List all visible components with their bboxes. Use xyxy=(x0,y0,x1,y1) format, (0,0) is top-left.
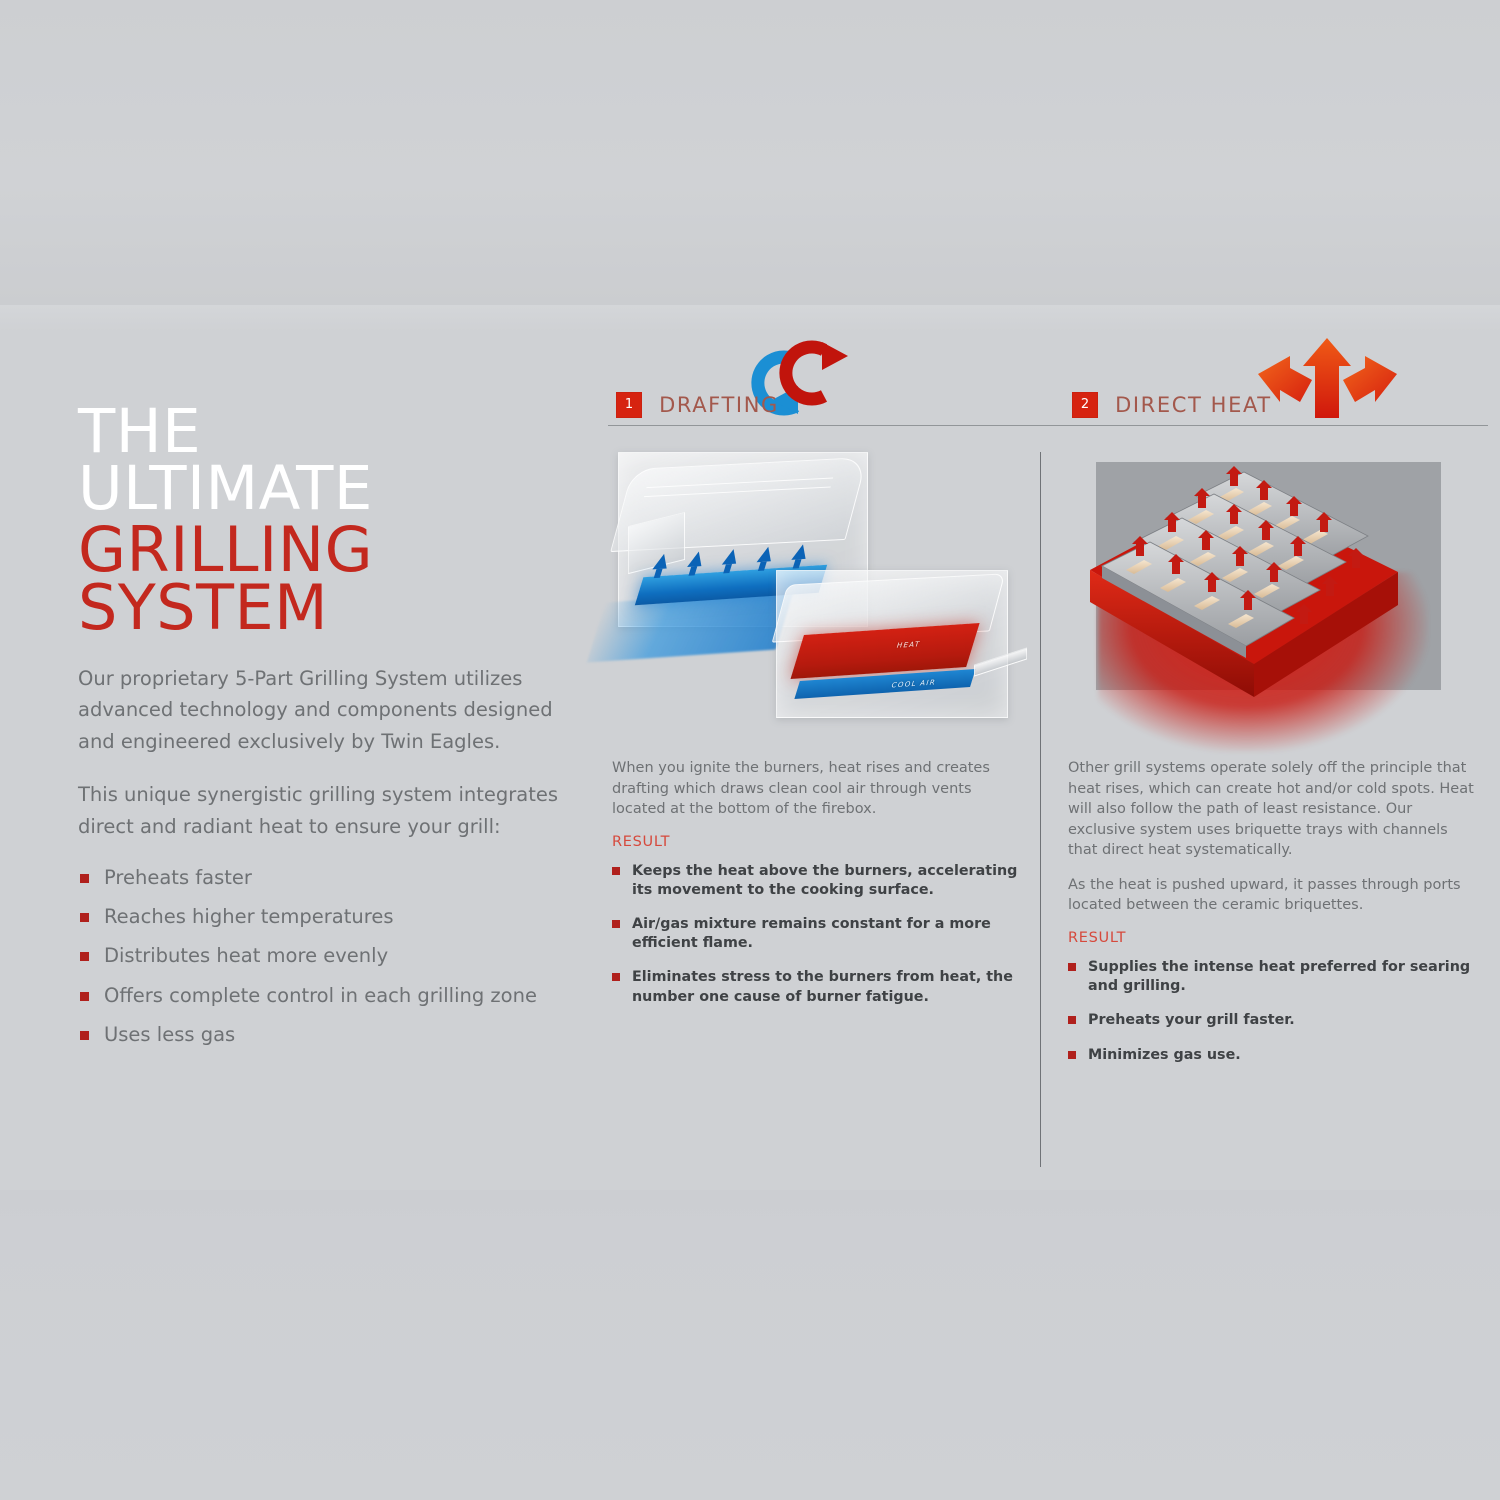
section-title: DRAFTING xyxy=(659,393,779,417)
bullet-square-icon xyxy=(80,1031,89,1040)
background-band-bottom xyxy=(0,1190,1500,1500)
title-line-4: SYSTEM xyxy=(78,579,578,637)
body-paragraph: When you ignite the burners, heat rises … xyxy=(612,758,1024,820)
step-number-badge: 2 xyxy=(1072,392,1098,418)
benefit-list: Preheats faster Reaches higher temperatu… xyxy=(78,865,578,1049)
up-arrow-icon xyxy=(757,546,776,562)
grill-closed-cutaway-render: HEAT COOL AIR xyxy=(776,570,1008,718)
column-divider-rule xyxy=(1040,452,1041,1167)
list-item: Offers complete control in each grilling… xyxy=(78,983,578,1009)
direct-heat-content: Other grill systems operate solely off t… xyxy=(1068,758,1480,1080)
list-item: Distributes heat more evenly xyxy=(78,943,578,969)
result-text: Keeps the heat above the burners, accele… xyxy=(632,863,1017,898)
bullet-square-icon xyxy=(80,952,89,961)
hood-seam xyxy=(644,486,831,497)
intro-paragraph-1: Our proprietary 5-Part Grilling System u… xyxy=(78,663,578,758)
benefit-label: Offers complete control in each grilling… xyxy=(104,984,537,1007)
up-arrow-icon xyxy=(687,551,706,567)
intro-paragraphs: Our proprietary 5-Part Grilling System u… xyxy=(78,663,578,843)
briquette-tray-svg xyxy=(1068,452,1488,742)
drafting-result-list: Keeps the heat above the burners, accele… xyxy=(612,862,1024,1007)
list-item: Supplies the intense heat preferred for … xyxy=(1068,958,1480,996)
bullet-square-icon xyxy=(612,973,620,981)
up-arrow-icon xyxy=(722,549,741,565)
section-header-drafting: 1 DRAFTING xyxy=(616,392,779,432)
bullet-square-icon xyxy=(1068,963,1076,971)
list-item: Air/gas mixture remains constant for a m… xyxy=(612,915,1024,953)
bullet-square-icon xyxy=(612,867,620,875)
bullet-square-icon xyxy=(1068,1051,1076,1059)
result-text: Air/gas mixture remains constant for a m… xyxy=(632,916,991,951)
list-item: Preheats your grill faster. xyxy=(1068,1011,1480,1030)
bullet-square-icon xyxy=(80,913,89,922)
result-text: Supplies the intense heat preferred for … xyxy=(1088,959,1470,994)
section-title: DIRECT HEAT xyxy=(1115,393,1272,417)
grill-airflow-cutaway-illustration: HEAT COOL AIR xyxy=(608,450,1028,740)
ceramic-briquette-tray-illustration xyxy=(1068,452,1488,742)
up-arrow-icon xyxy=(792,544,811,560)
brochure-page: THE ULTIMATE GRILLING SYSTEM Our proprie… xyxy=(0,0,1500,1500)
direct-heat-body: Other grill systems operate solely off t… xyxy=(1068,758,1480,916)
list-item: Keeps the heat above the burners, accele… xyxy=(612,862,1024,900)
section-header-direct-heat: 2 DIRECT HEAT xyxy=(1072,392,1272,432)
benefit-label: Preheats faster xyxy=(104,866,252,889)
three-heat-arrows-icon xyxy=(1250,330,1405,425)
benefit-label: Reaches higher temperatures xyxy=(104,905,394,928)
bullet-square-icon xyxy=(612,920,620,928)
title-line-2: ULTIMATE xyxy=(78,461,578,518)
list-item: Uses less gas xyxy=(78,1022,578,1048)
list-item: Reaches higher temperatures xyxy=(78,904,578,930)
result-text: Minimizes gas use. xyxy=(1088,1047,1241,1063)
page-title: THE ULTIMATE GRILLING SYSTEM xyxy=(78,404,578,637)
result-label: RESULT xyxy=(1068,930,1480,946)
result-text: Preheats your grill faster. xyxy=(1088,1012,1295,1028)
drafting-content: When you ignite the burners, heat rises … xyxy=(612,758,1024,1022)
intro-paragraph-2: This unique synergistic grilling system … xyxy=(78,779,578,842)
intro-column: THE ULTIMATE GRILLING SYSTEM Our proprie… xyxy=(78,404,578,1064)
benefit-label: Distributes heat more evenly xyxy=(104,944,388,967)
result-label: RESULT xyxy=(612,834,1024,850)
step-number-badge: 1 xyxy=(616,392,642,418)
result-text: Eliminates stress to the burners from he… xyxy=(632,969,1013,1004)
bullet-square-icon xyxy=(80,992,89,1001)
benefit-label: Uses less gas xyxy=(104,1023,235,1046)
list-item: Minimizes gas use. xyxy=(1068,1046,1480,1065)
list-item: Preheats faster xyxy=(78,865,578,891)
direct-heat-result-list: Supplies the intense heat preferred for … xyxy=(1068,958,1480,1065)
drafting-body: When you ignite the burners, heat rises … xyxy=(612,758,1024,820)
body-paragraph: As the heat is pushed upward, it passes … xyxy=(1068,875,1480,916)
body-paragraph: Other grill systems operate solely off t… xyxy=(1068,758,1480,861)
background-band-top xyxy=(0,0,1500,305)
list-item: Eliminates stress to the burners from he… xyxy=(612,968,1024,1006)
bullet-square-icon xyxy=(1068,1016,1076,1024)
hood-seam xyxy=(647,477,834,488)
bullet-square-icon xyxy=(80,874,89,883)
